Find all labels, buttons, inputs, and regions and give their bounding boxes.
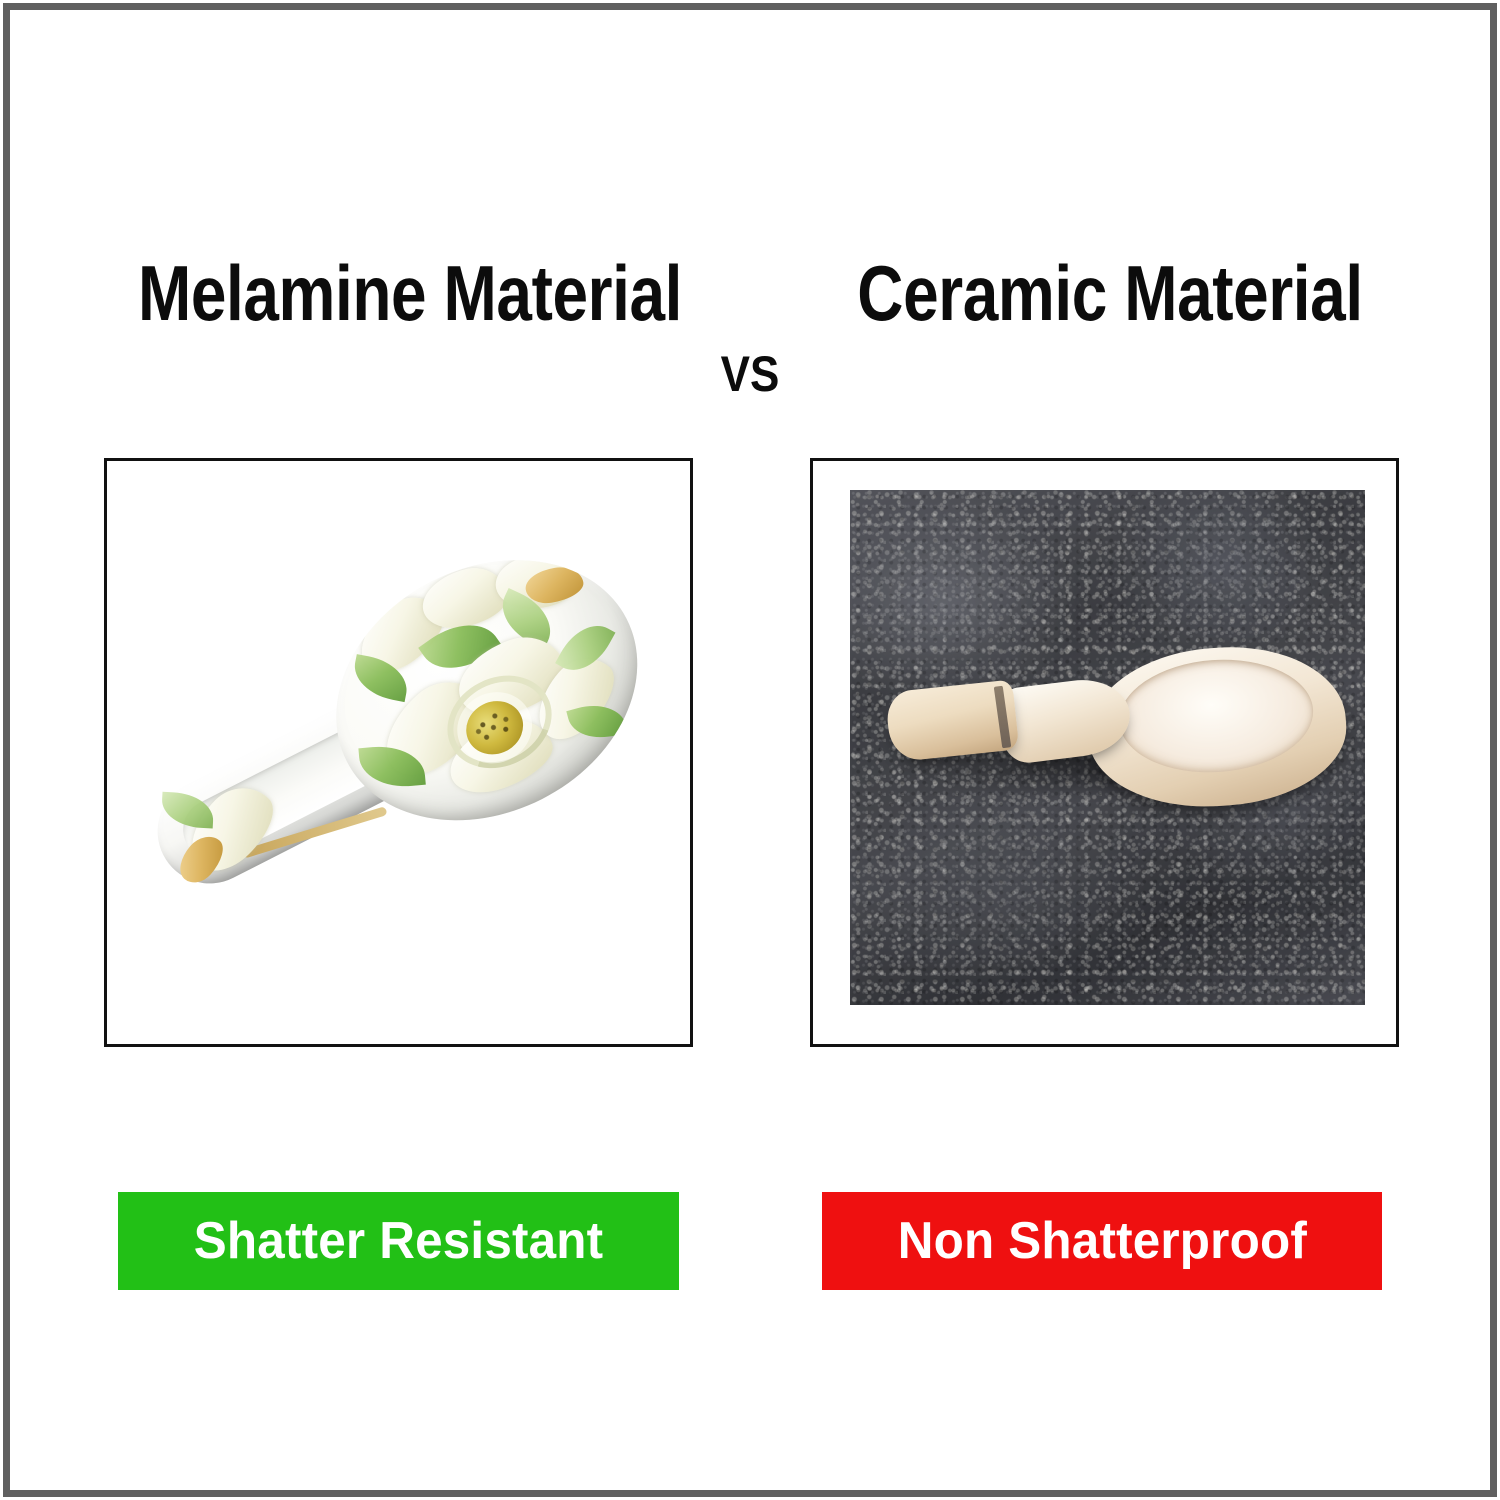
right-column-title: Ceramic Material — [807, 248, 1414, 338]
comparison-graphic: Melamine Material Ceramic Material VS — [0, 0, 1500, 1500]
left-product-image-frame — [104, 458, 693, 1047]
painted-leaf — [161, 792, 215, 829]
melamine-spoon-rest — [107, 508, 683, 965]
ceramic-photo-inner — [850, 490, 1365, 1005]
melamine-product-photo — [107, 461, 690, 1044]
left-status-badge: Shatter Resistant — [118, 1192, 679, 1290]
melamine-photo-background — [107, 461, 690, 1044]
left-column-title: Melamine Material — [107, 248, 714, 338]
right-badge-label: Non Shatterproof — [897, 1211, 1306, 1271]
ceramic-product-photo — [813, 461, 1396, 1044]
versus-label: VS — [671, 345, 829, 403]
ceramic-bowl-well — [1116, 653, 1317, 778]
right-product-image-frame — [810, 458, 1399, 1047]
right-status-badge: Non Shatterproof — [822, 1192, 1382, 1290]
left-badge-label: Shatter Resistant — [194, 1211, 604, 1271]
